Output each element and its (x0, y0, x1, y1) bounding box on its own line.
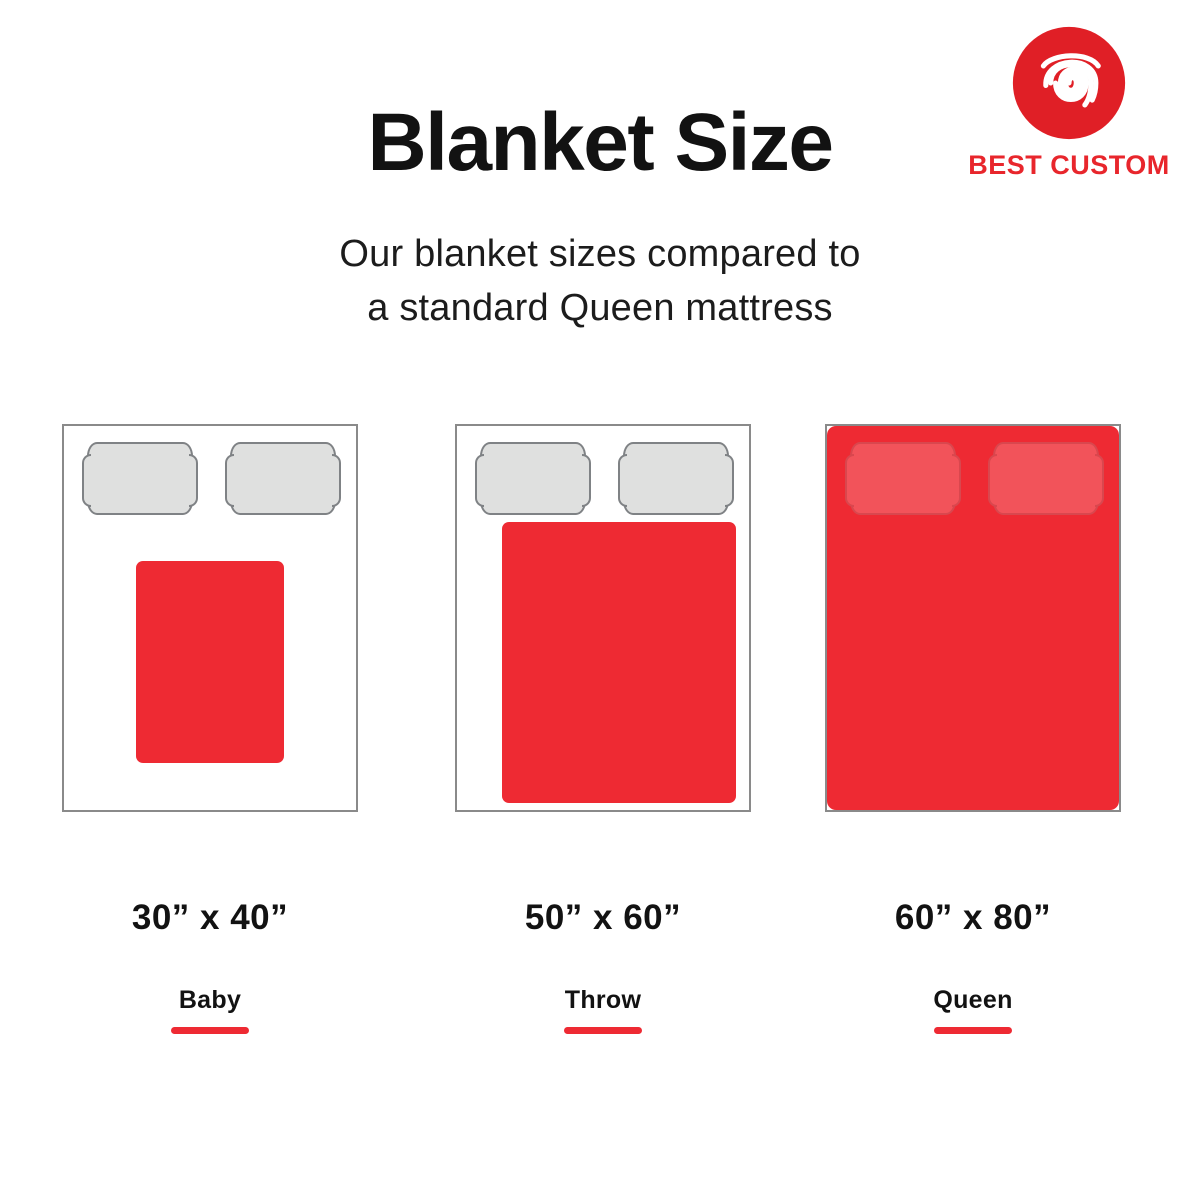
mattress-frame-queen (825, 424, 1121, 812)
pillow-right-icon (993, 442, 1099, 515)
bed-dimensions-baby: 30” x 40” (40, 898, 380, 938)
pillow-right-icon (623, 442, 729, 515)
mattress-frame-throw (455, 424, 751, 812)
bed-dimensions-queen: 60” x 80” (803, 898, 1143, 938)
accent-rule-throw (564, 1027, 642, 1034)
pillow-left-icon (87, 442, 193, 515)
mattress-frame-baby (62, 424, 358, 812)
blanket-shape-throw (502, 522, 736, 803)
bed-column-queen: 60” x 80” Queen (803, 424, 1143, 1034)
bed-column-baby: 30” x 40” Baby (40, 424, 380, 1034)
accent-rule-queen (934, 1027, 1012, 1034)
bed-size-name-throw: Throw (433, 986, 773, 1015)
pillow-left-icon (480, 442, 586, 515)
subtitle-line-1: Our blanket sizes compared to (0, 228, 1200, 282)
page-subtitle: Our blanket sizes compared to a standard… (0, 228, 1200, 336)
pillow-right-icon (230, 442, 336, 515)
bed-dimensions-throw: 50” x 60” (433, 898, 773, 938)
bed-column-throw: 50” x 60” Throw (433, 424, 773, 1034)
bed-comparison-row: 30” x 40” Baby 50” x 60” Throw 60” x 80”… (0, 424, 1200, 1064)
pillow-left-icon (850, 442, 956, 515)
infographic-page: BEST CUSTOM Blanket Size Our blanket siz… (0, 0, 1200, 1200)
subtitle-line-2: a standard Queen mattress (0, 282, 1200, 336)
page-title: Blanket Size (0, 102, 1200, 184)
accent-rule-baby (171, 1027, 249, 1034)
bed-size-name-baby: Baby (40, 986, 380, 1015)
blanket-shape-baby (136, 561, 284, 763)
bed-size-name-queen: Queen (803, 986, 1143, 1015)
